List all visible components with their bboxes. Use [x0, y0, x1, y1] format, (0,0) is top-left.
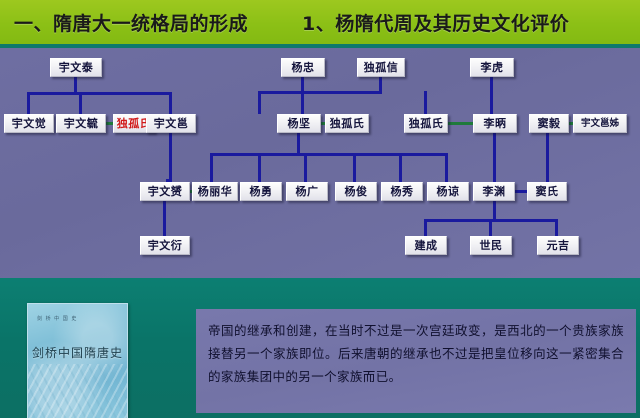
node-lihu[interactable]: 李虎 — [470, 58, 514, 77]
marriage-liyuan-doushi-line — [514, 190, 528, 193]
node-yangzhong[interactable]: 杨忠 — [281, 58, 325, 77]
node-yangguang[interactable]: 杨广 — [286, 182, 328, 201]
node-liyuan[interactable]: 李渊 — [473, 182, 515, 201]
connector-douyi-to-doushi — [546, 133, 549, 182]
header-left-title: 一、隋唐大一统格局的形成 — [14, 9, 248, 36]
node-yuwenyu[interactable]: 宇文毓 — [56, 114, 106, 133]
node-yangjian[interactable]: 杨坚 — [277, 114, 321, 133]
node-shimin[interactable]: 世民 — [470, 236, 512, 255]
connector-liyuan-down — [493, 201, 496, 221]
connector-yuwenyong-drop — [169, 92, 172, 114]
node-yangliang[interactable]: 杨谅 — [427, 182, 469, 201]
genealogy-diagram: 宇文泰 宇文觉 宇文毓 独孤氏 宇文邕 宇文赟 宇文衍 杨忠 独孤信 李虎 杨坚… — [0, 48, 640, 278]
connector-yangzhong-stem — [301, 77, 304, 114]
node-yuanji[interactable]: 元吉 — [537, 236, 579, 255]
connector-yangxiu-drop — [399, 153, 402, 182]
node-yuwenyun[interactable]: 宇文赟 — [140, 182, 190, 201]
node-yuwenyong[interactable]: 宇文邕 — [146, 114, 196, 133]
book-cover-image: 剑 桥 中 国 史 剑桥中国隋唐史 — [27, 303, 128, 418]
connector-yanglihua-drop — [210, 153, 213, 182]
connector-yuwenyong-to-yuwenyun — [169, 133, 172, 182]
node-yanglihua[interactable]: 杨丽华 — [192, 182, 238, 201]
node-jiancheng[interactable]: 建成 — [405, 236, 447, 255]
header-right-title: 1、杨隋代周及其历史文化评价 — [302, 9, 569, 36]
connector-dugushi-right-drop — [424, 91, 427, 114]
connector-yuwenyun-to-yuwenyan — [163, 201, 166, 236]
connector-yangliang-drop — [445, 153, 448, 182]
book-title: 剑桥中国隋唐史 — [28, 344, 127, 361]
node-yuwenyongzi[interactable]: 宇文邕姊 — [573, 114, 627, 133]
connector-lihu-stem — [490, 77, 493, 114]
node-douyi[interactable]: 窦毅 — [529, 114, 569, 133]
slide-header: 一、隋唐大一统格局的形成 1、杨隋代周及其历史文化评价 — [0, 0, 640, 44]
node-yangjun[interactable]: 杨俊 — [335, 182, 377, 201]
connector-shimin-drop — [489, 219, 492, 236]
connector-yangjun-drop — [353, 153, 356, 182]
connector-libing-to-liyuan — [493, 133, 496, 182]
connector-yangguang-drop — [304, 153, 307, 182]
node-yuwenyan[interactable]: 宇文衍 — [140, 236, 190, 255]
node-yangyong[interactable]: 杨勇 — [240, 182, 282, 201]
node-yangxiu[interactable]: 杨秀 — [381, 182, 423, 201]
connector-yuanji-drop — [555, 219, 558, 236]
connector-jiancheng-drop — [424, 219, 427, 236]
node-doushi[interactable]: 窦氏 — [527, 182, 567, 201]
connector-dugushi-left-drop — [258, 91, 261, 114]
connector-duguxin-bus — [258, 91, 382, 94]
connector-yuwenjue-drop — [27, 92, 30, 114]
node-dugushi-li[interactable]: 独孤氏 — [404, 114, 448, 133]
node-libing[interactable]: 李昞 — [473, 114, 517, 133]
quote-panel: 帝国的继承和创建，在当时不过是一次宫廷政变，是西北的一个贵族家族接替另一个家族即… — [196, 309, 636, 413]
connector-yuwenyu-drop — [79, 92, 82, 114]
connector-yangyong-drop — [258, 153, 261, 182]
marriage-dugushi-libing — [447, 122, 474, 125]
connector-yangjian-down — [297, 133, 300, 155]
node-yuwenjue[interactable]: 宇文觉 — [4, 114, 54, 133]
connector-yuwentai-bus — [27, 92, 172, 95]
node-dugushi-yang[interactable]: 独孤氏 — [325, 114, 369, 133]
quote-text: 帝国的继承和创建，在当时不过是一次宫廷政变，是西北的一个贵族家族接替另一个家族即… — [208, 319, 624, 388]
node-duguxin[interactable]: 独孤信 — [357, 58, 405, 77]
connector-yang-children-bus — [210, 153, 448, 156]
node-yuwentai[interactable]: 宇文泰 — [50, 58, 102, 77]
book-subtitle: 剑 桥 中 国 史 — [37, 315, 77, 322]
slide-root: 一、隋唐大一统格局的形成 1、杨隋代周及其历史文化评价 — [0, 0, 640, 418]
